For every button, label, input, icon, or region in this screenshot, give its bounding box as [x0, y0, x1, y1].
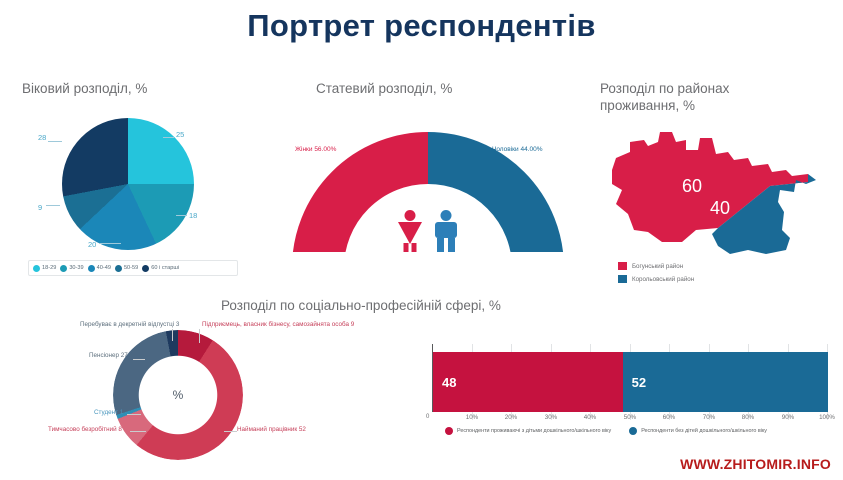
age-leader-5 — [48, 141, 62, 142]
legend-label: 40-49 — [97, 265, 111, 271]
district-legend-label: Корольовський район — [632, 276, 694, 283]
legend-dot-icon — [629, 427, 637, 435]
social-label-student: Студент 1 — [94, 409, 123, 416]
legend-dot-icon — [88, 265, 95, 272]
legend-dot-icon — [115, 265, 122, 272]
legend-item-50-59: 50-59 — [115, 265, 138, 272]
social-label-unemployed: Тимчасово безробітний 8 — [48, 426, 122, 433]
district-map-svg — [600, 118, 840, 258]
social-leader-employee — [224, 431, 237, 432]
social-leader-student — [127, 414, 141, 415]
age-leader-1 — [163, 137, 174, 138]
social-donut-chart: % — [113, 330, 243, 460]
social-leader-entrepreneur — [199, 329, 200, 343]
legend-swatch-icon — [618, 262, 627, 270]
legend-label: 60 і старші — [151, 265, 179, 271]
bar-tick-40: 40% — [584, 414, 596, 421]
gender-female-label: Жінки 56.00% — [295, 146, 336, 153]
social-label-entrepreneur: Підприємець, власник бізнесу, самозайнят… — [202, 321, 354, 328]
legend-dot-icon — [445, 427, 453, 435]
age-legend: 18-29 30-39 40-49 50-59 60 і старші — [28, 260, 238, 276]
legend-item-30-39: 30-39 — [60, 265, 83, 272]
bar-tick-80: 80% — [742, 414, 754, 421]
gender-gauge-chart: Жінки 56.00% Чоловіки 44.00% — [292, 132, 564, 252]
bar-tick-20: 20% — [505, 414, 517, 421]
bar-stacked-row: 48 52 — [433, 352, 828, 412]
social-label-maternity: Перебуває в декретній відпустці 3 — [80, 321, 179, 328]
bar-value-without-children: 52 — [623, 375, 646, 390]
bar-value-with-children: 48 — [433, 375, 456, 390]
infographic-page: Портрет респондентів Віковий розподіл, %… — [0, 0, 843, 480]
social-leader-maternity — [172, 329, 173, 341]
bar-segment-without-children: 52 — [623, 352, 828, 412]
district-value-bohunskyi: 60 — [682, 176, 702, 197]
legend-dot-icon — [33, 265, 40, 272]
gender-male-label: Чоловіки 44.00% — [492, 146, 543, 153]
bar-segment-with-children: 48 — [433, 352, 623, 412]
age-leader-2 — [176, 215, 187, 216]
age-pie-slices — [62, 118, 194, 250]
man-icon — [433, 210, 459, 252]
social-leader-pensioner — [133, 359, 145, 360]
age-value-40-49: 20 — [88, 240, 96, 249]
district-legend: Богунський район Корольовський район — [618, 262, 694, 288]
district-map: 60 40 — [600, 118, 840, 258]
age-leader-3 — [99, 243, 121, 244]
age-section-title: Віковий розподіл, % — [22, 80, 147, 97]
children-bar-chart: 48 52 0 10% 20% 30% 40% 50% 60% 70% 80% … — [432, 352, 832, 412]
district-value-korolovskyi: 40 — [710, 198, 730, 219]
bar-tick-10: 10% — [466, 414, 478, 421]
legend-item-18-29: 18-29 — [33, 265, 56, 272]
bar-tick-zero: 0 — [426, 414, 429, 420]
social-section-title: Розподіл по соціально-професійній сфері,… — [221, 297, 501, 314]
social-label-pensioner: Пенсіонер 27 — [89, 352, 128, 359]
bar-tick-60: 60% — [663, 414, 675, 421]
age-value-30-39: 18 — [189, 211, 197, 220]
legend-label: 30-39 — [69, 265, 83, 271]
bar-tick-100: 100% — [819, 414, 835, 421]
age-value-60plus: 28 — [38, 133, 46, 142]
district-legend-label: Богунський район — [632, 263, 683, 270]
bar-tick-30: 30% — [545, 414, 557, 421]
bar-tick-70: 70% — [703, 414, 715, 421]
age-leader-4 — [46, 205, 60, 206]
legend-label: 50-59 — [124, 265, 138, 271]
age-value-18-29: 25 — [176, 130, 184, 139]
legend-label: 18-29 — [42, 265, 56, 271]
bar-legend-item-with-children: Респонденти проживаючі з дітьми дошкільн… — [445, 427, 611, 435]
age-pie-chart — [62, 118, 194, 250]
bar-legend-item-without-children: Респонденти без дітей дошкільного/шкільн… — [629, 427, 767, 435]
bar-legend-label: Респонденти без дітей дошкільного/шкільн… — [641, 428, 767, 434]
legend-swatch-icon — [618, 275, 627, 283]
social-label-employee: Найманий працівник 52 — [237, 426, 306, 433]
page-title: Портрет респондентів — [0, 8, 843, 44]
legend-dot-icon — [60, 265, 67, 272]
footer-website-url[interactable]: WWW.ZHITOMIR.INFO — [680, 456, 831, 472]
gender-section-title: Статевий розподіл, % — [316, 80, 452, 97]
legend-dot-icon — [142, 265, 149, 272]
bar-tick-90: 90% — [782, 414, 794, 421]
bar-tick-labels: 10% 20% 30% 40% 50% 60% 70% 80% 90% 100% — [432, 414, 832, 426]
district-section-title: Розподіл по районах проживання, % — [600, 80, 770, 114]
gender-people-icons — [392, 208, 464, 252]
bar-legend-label: Респонденти проживаючі з дітьми дошкільн… — [457, 428, 611, 434]
bar-tick-50: 50% — [624, 414, 636, 421]
woman-icon — [397, 210, 423, 252]
legend-item-60plus: 60 і старші — [142, 265, 179, 272]
district-legend-item-korolovskyi: Корольовський район — [618, 275, 694, 283]
social-donut-center-label: % — [113, 330, 243, 460]
age-value-50-59: 9 — [38, 203, 42, 212]
legend-item-40-49: 40-49 — [88, 265, 111, 272]
children-bar-legend: Респонденти проживаючі з дітьми дошкільн… — [445, 427, 767, 435]
district-legend-item-bohunskyi: Богунський район — [618, 262, 694, 270]
social-leader-unemployed — [130, 431, 146, 432]
